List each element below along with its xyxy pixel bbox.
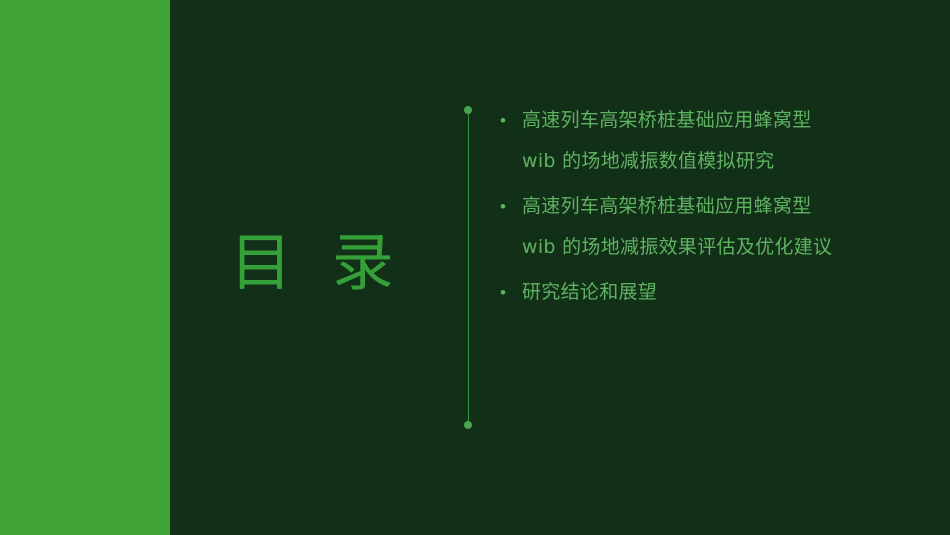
list-item[interactable]: • 高速列车高架桥桩基础应用蜂窝型 wib 的场地减振效果评估及优化建议: [500, 186, 930, 268]
list-item-label: 研究结论和展望: [522, 272, 657, 313]
slide-canvas: 目 录 • 高速列车高架桥桩基础应用蜂窝型 wib 的场地减振数值模拟研究 • …: [0, 0, 950, 535]
vertical-divider-line: [468, 110, 469, 425]
title-block: 目 录: [170, 0, 460, 535]
bullet-icon: •: [500, 100, 522, 141]
list-item-label: 高速列车高架桥桩基础应用蜂窝型 wib 的场地减振效果评估及优化建议: [522, 186, 832, 268]
table-of-contents: • 高速列车高架桥桩基础应用蜂窝型 wib 的场地减振数值模拟研究 • 高速列车…: [500, 100, 930, 317]
divider-dot-top-icon: [464, 106, 472, 114]
list-item[interactable]: • 高速列车高架桥桩基础应用蜂窝型 wib 的场地减振数值模拟研究: [500, 100, 930, 182]
accent-band: [0, 0, 170, 535]
list-item[interactable]: • 研究结论和展望: [500, 272, 930, 313]
list-item-label: 高速列车高架桥桩基础应用蜂窝型 wib 的场地减振数值模拟研究: [522, 100, 812, 182]
page-title: 目 录: [230, 232, 404, 294]
bullet-icon: •: [500, 186, 522, 227]
bullet-icon: •: [500, 272, 522, 313]
divider-dot-bottom-icon: [464, 421, 472, 429]
